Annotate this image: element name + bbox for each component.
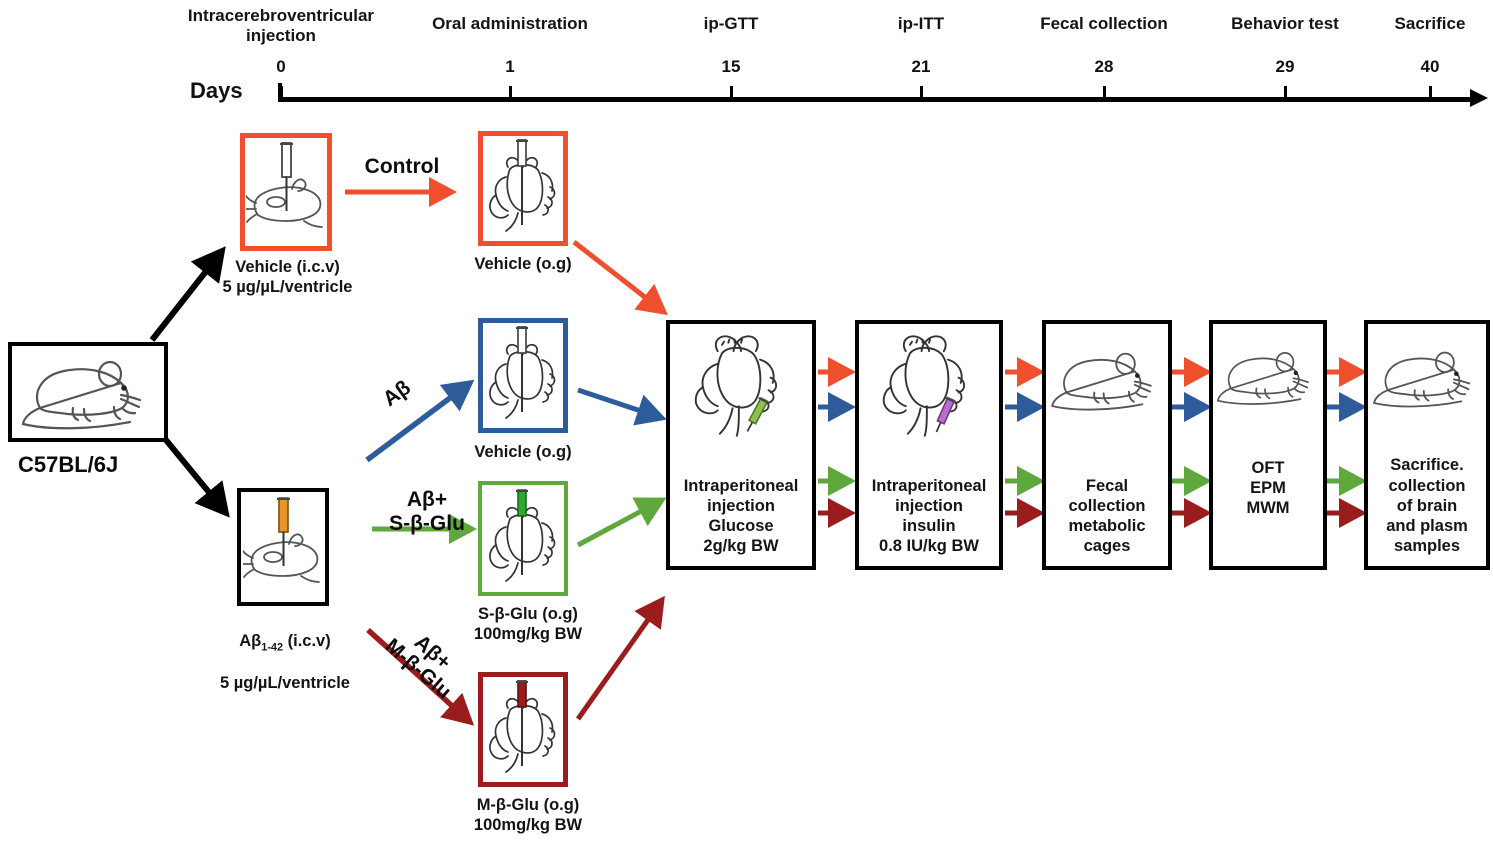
timeline-tick-4 (1103, 86, 1106, 97)
ip-gtt-stage-box: Intraperitoneal injection Glucose 2g/kg … (666, 320, 816, 570)
timeline-tick-1 (509, 86, 512, 97)
hand-holding-mouse-oral-gavage-icon (484, 678, 562, 782)
timeline-tick-3 (920, 86, 923, 97)
timeline-event-label-2: ip-GTT (671, 14, 791, 34)
vehicle-og-abeta-caption: Vehicle (o.g) (443, 443, 603, 463)
mouse-icon (18, 350, 158, 434)
icv-control-caption: Vehicle (i.c.v) 5 µg/µL/ventricle (185, 258, 390, 298)
icv-abeta-caption-rest: (i.c.v) (283, 632, 331, 650)
timeline-day-0: 0 (251, 57, 311, 77)
mouse-icon (1048, 342, 1166, 416)
timeline-tick-6 (1429, 86, 1432, 97)
mouse-head-icv-injection-icon (246, 139, 326, 245)
behavior-test-stage-box: OFT EPM MWM (1209, 320, 1327, 570)
timeline-arrowhead-icon (1470, 89, 1488, 107)
ip-gtt-stage-icon-wrap (686, 330, 796, 445)
sacrifice-stage-box: Sacrifice. collection of brain and plasm… (1364, 320, 1490, 570)
converge-arrow-sbglu (578, 500, 662, 545)
vehicle-og-abeta-box (478, 318, 568, 433)
timeline-day-6: 40 (1400, 57, 1460, 77)
converge-arrow-abeta (578, 390, 662, 418)
timeline-day-2: 15 (701, 57, 761, 77)
vehicle-og-control-caption: Vehicle (o.g) (443, 255, 603, 275)
timeline-event-label-0: Intracerebroventricular injection (176, 6, 386, 47)
icv-abeta-caption: Aβ1-42 (i.c.v) 5 µg/µL/ventricle (180, 612, 390, 694)
icv-abeta-caption-line2: 5 µg/µL/ventricle (220, 674, 350, 692)
hand-holding-mouse-ip-injection-icon (686, 330, 796, 440)
timeline-tick-2 (730, 86, 733, 97)
s-beta-glu-og-box (478, 481, 568, 596)
source-mouse-box (8, 342, 168, 442)
timeline-days-label: Days (190, 78, 243, 104)
fecal-collection-stage-icon-wrap (1048, 342, 1166, 421)
timeline-event-label-6: Sacrifice (1371, 14, 1489, 34)
timeline-day-3: 21 (891, 57, 951, 77)
m-beta-glu-og-caption: M-β-Glu (o.g) 100mg/kg BW (443, 796, 613, 836)
timeline-event-label-4: Fecal collection (1014, 14, 1194, 34)
timeline-day-1: 1 (480, 57, 540, 77)
timeline-tick-5 (1284, 86, 1287, 97)
sacrifice-stage-caption: Sacrifice. collection of brain and plasm… (1384, 455, 1470, 556)
source-strain-label: C57BL/6J (18, 452, 118, 478)
sacrifice-stage-icon-wrap (1370, 342, 1484, 417)
s-beta-glu-og-caption: S-β-Glu (o.g) 100mg/kg BW (443, 605, 613, 645)
mouse-icon (1370, 342, 1484, 412)
icv-abeta-box (237, 488, 329, 606)
icv-control-box (240, 133, 332, 251)
hand-holding-mouse-oral-gavage-icon (484, 487, 562, 591)
mouse-icon (1214, 342, 1322, 410)
ip-itt-stage-box: Intraperitoneal injection insulin 0.8 IU… (855, 320, 1003, 570)
timeline-event-label-1: Oral administration (403, 14, 617, 34)
fecal-collection-stage-box: Fecal collection metabolic cages (1042, 320, 1172, 570)
hand-holding-mouse-oral-gavage-icon (484, 324, 562, 428)
ip-itt-stage-icon-wrap (874, 330, 984, 445)
timeline-event-label-5: Behavior test (1204, 14, 1366, 34)
mouse-head-icv-injection-icon (243, 494, 323, 600)
timeline-event-label-3: ip-ITT (863, 14, 979, 34)
hand-holding-mouse-ip-injection-icon (874, 330, 984, 440)
ip-itt-stage-caption: Intraperitoneal injection insulin 0.8 IU… (870, 476, 989, 557)
timeline-day-4: 28 (1074, 57, 1134, 77)
fecal-collection-stage-caption: Fecal collection metabolic cages (1066, 476, 1147, 557)
hand-holding-mouse-oral-gavage-icon (484, 137, 562, 241)
timeline-axis (278, 97, 1476, 102)
icv-abeta-caption-sub: 1-42 (261, 641, 283, 653)
timeline-day-5: 29 (1255, 57, 1315, 77)
ip-gtt-stage-caption: Intraperitoneal injection Glucose 2g/kg … (682, 476, 801, 557)
icv-abeta-caption-line1: Aβ1-42 (i.c.v) (239, 632, 330, 650)
behavior-test-stage-icon-wrap (1214, 342, 1322, 415)
sbglu-arrow-label: Aβ+ S-β-Glu (372, 488, 482, 535)
icv-abeta-caption-main: Aβ (239, 632, 261, 650)
m-beta-glu-og-box (478, 672, 568, 787)
abeta-arrow-label: Aβ (370, 370, 424, 418)
control-arrow-label: Control (350, 155, 454, 179)
timeline-tick-0 (280, 86, 283, 97)
vehicle-og-control-box (478, 131, 568, 246)
converge-arrow-control (574, 242, 664, 312)
figure-canvas: Days Intracerebroventricular injection 0… (0, 0, 1493, 846)
behavior-test-stage-caption: OFT EPM MWM (1244, 458, 1291, 518)
